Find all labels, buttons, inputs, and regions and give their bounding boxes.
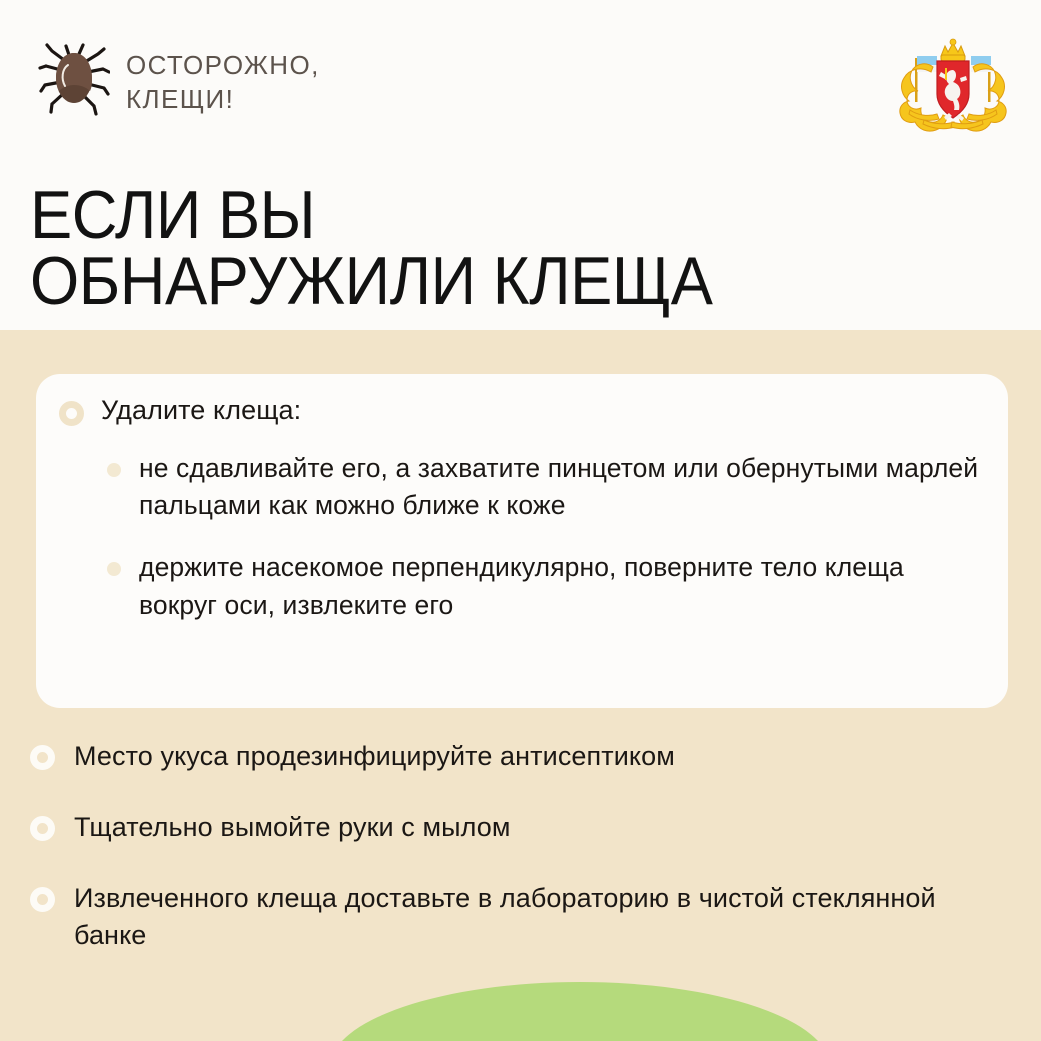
- list-item: Извлеченного клеща доставьте в лаборатор…: [30, 880, 1001, 956]
- list-item: Место укуса продезинфицируйте антисептик…: [30, 738, 1001, 776]
- page-title-line-2: ОБНАРУЖИЛИ КЛЕЩА: [30, 249, 712, 315]
- list-item: не сдавливайте его, а захватите пинцетом…: [107, 450, 984, 525]
- ring-bullet-icon: [30, 745, 55, 770]
- ring-bullet-icon: [30, 887, 55, 912]
- ring-bullet-icon: [59, 401, 84, 426]
- coat-of-arms-icon: [893, 28, 1013, 138]
- dot-bullet-icon: [107, 562, 121, 576]
- list-item-label: Место укуса продезинфицируйте антисептик…: [74, 738, 675, 776]
- page-title: ЕСЛИ ВЫ ОБНАРУЖИЛИ КЛЕЩА: [30, 183, 712, 315]
- sub-item-label: не сдавливайте его, а захватите пинцетом…: [139, 450, 984, 525]
- brand-logo-text: ОСТОРОЖНО, КЛЕЩИ!: [126, 48, 320, 117]
- followup-steps-list: Место укуса продезинфицируйте антисептик…: [30, 738, 1001, 955]
- poster-root: ОСТОРОЖНО, КЛЕЩИ!: [0, 0, 1041, 1041]
- brand-logo-line-1: ОСТОРОЖНО,: [126, 48, 320, 82]
- brand-logo-line-2: КЛЕЩИ!: [126, 82, 320, 116]
- list-item-label: Извлеченного клеща доставьте в лаборатор…: [74, 880, 1001, 956]
- page-title-line-1: ЕСЛИ ВЫ: [30, 183, 712, 249]
- dot-bullet-icon: [107, 463, 121, 477]
- list-item-label: Тщательно вымойте руки с мылом: [74, 809, 511, 847]
- ring-bullet-icon: [30, 816, 55, 841]
- sub-item-label: держите насекомое перпендикулярно, повер…: [139, 549, 984, 624]
- tick-icon: [38, 42, 110, 122]
- list-item: Тщательно вымойте руки с мылом: [30, 809, 1001, 847]
- list-item: Удалите клеща:: [59, 394, 984, 428]
- card-sublist: не сдавливайте его, а захватите пинцетом…: [107, 450, 984, 625]
- card-heading: Удалите клеща:: [101, 394, 301, 428]
- brand-logo: ОСТОРОЖНО, КЛЕЩИ!: [38, 42, 320, 122]
- list-item: держите насекомое перпендикулярно, повер…: [107, 549, 984, 624]
- card-content: Удалите клеща: не сдавливайте его, а зах…: [59, 394, 984, 624]
- removal-steps-card: Удалите клеща: не сдавливайте его, а зах…: [36, 374, 1008, 708]
